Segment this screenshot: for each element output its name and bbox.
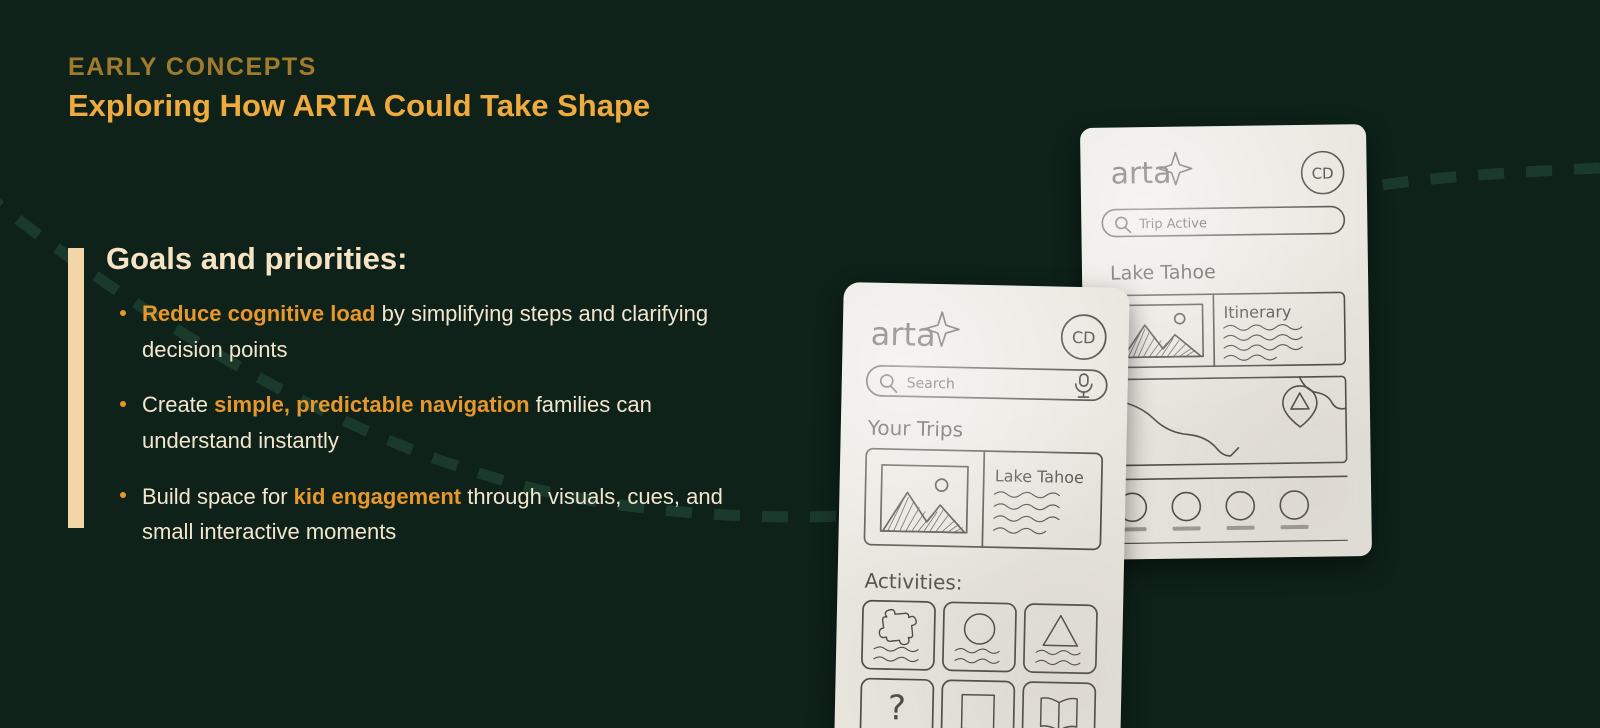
- puzzle-piece-icon: [879, 609, 916, 644]
- wireframe-front-sketch: arta CD Search Your Trips: [834, 282, 1130, 728]
- accent-bar: [68, 248, 84, 528]
- avatar-initials: CD: [1312, 164, 1334, 182]
- logo-wordmark: arta: [1110, 156, 1171, 192]
- itinerary-label: Itinerary: [1223, 302, 1291, 322]
- eyebrow-label: EARLY CONCEPTS: [68, 54, 317, 82]
- search-placeholder: Search: [907, 375, 955, 392]
- activity-tile-circle[interactable]: [943, 602, 1016, 671]
- nav-bottom-rule: [1112, 540, 1348, 543]
- search-input[interactable]: [866, 366, 1107, 401]
- map-pin-icon[interactable]: [1283, 386, 1318, 427]
- tile-squiggles: [1036, 650, 1080, 665]
- mountain-icon: [1123, 324, 1201, 357]
- nav-labels: [1119, 525, 1309, 532]
- map-route-line: [1110, 398, 1239, 458]
- list-item: Create simple, predictable navigation fa…: [112, 387, 752, 458]
- list-item-prefix: Build space for: [142, 484, 294, 509]
- microphone-icon[interactable]: [1075, 374, 1091, 397]
- text-squiggle-lines: [1224, 324, 1302, 360]
- circle-icon: [964, 614, 995, 645]
- text-squiggle-lines: [994, 492, 1060, 534]
- list-item-emphasis: simple, predictable navigation: [214, 392, 529, 417]
- mountain-icon: [883, 492, 966, 533]
- nav-divider: [1111, 476, 1347, 479]
- slide-canvas: EARLY CONCEPTS Exploring How ARTA Could …: [0, 0, 1600, 728]
- bullet-dot-icon: [120, 401, 126, 407]
- list-item: Build space for kid engagement through v…: [112, 479, 752, 550]
- list-item-emphasis: kid engagement: [294, 484, 461, 509]
- list-item: Reduce cognitive load by simplifying ste…: [112, 296, 752, 367]
- mountain-hatching: [888, 497, 964, 533]
- search-value: Trip Active: [1138, 216, 1207, 232]
- section-title: Lake Tahoe: [1110, 261, 1216, 284]
- tile-squiggles: [955, 648, 999, 663]
- square-icon: [962, 695, 995, 728]
- search-icon: [881, 375, 893, 387]
- sun-icon: [935, 479, 947, 491]
- triangle-icon: [1043, 615, 1078, 646]
- nav-item-2[interactable]: [1172, 492, 1200, 520]
- goals-list: Reduce cognitive load by simplifying ste…: [112, 296, 752, 570]
- nav-item-4[interactable]: [1280, 491, 1308, 519]
- activity-tile-triangle[interactable]: [1024, 604, 1097, 673]
- activities-heading: Activities:: [864, 569, 962, 595]
- trip-name: Lake Tahoe: [995, 466, 1084, 487]
- list-item-prefix: Create: [142, 392, 214, 417]
- search-icon-handle: [891, 386, 897, 392]
- book-icon: [1041, 698, 1078, 728]
- sun-icon: [1175, 314, 1185, 324]
- page-title: Exploring How ARTA Could Take Shape: [68, 87, 650, 124]
- map-pin-triangle-icon: [1291, 393, 1309, 409]
- list-item-emphasis: Reduce cognitive load: [142, 301, 376, 326]
- activity-tile-square[interactable]: [941, 680, 1014, 728]
- question-mark-icon: ?: [887, 688, 906, 728]
- tile-squiggles: [874, 647, 918, 662]
- nav-item-3[interactable]: [1226, 492, 1254, 520]
- wireframe-card-front: arta CD Search Your Trips: [834, 282, 1130, 728]
- divider: [1213, 294, 1214, 366]
- logo-wordmark: arta: [870, 315, 936, 354]
- bullet-dot-icon: [120, 492, 126, 498]
- divider: [982, 451, 984, 547]
- search-icon-handle: [1125, 227, 1130, 232]
- activity-tile-puzzle[interactable]: [862, 601, 935, 670]
- trips-heading: Your Trips: [867, 416, 964, 442]
- goals-heading: Goals and priorities:: [106, 240, 407, 277]
- bullet-dot-icon: [120, 310, 126, 316]
- avatar-initials: CD: [1072, 328, 1096, 347]
